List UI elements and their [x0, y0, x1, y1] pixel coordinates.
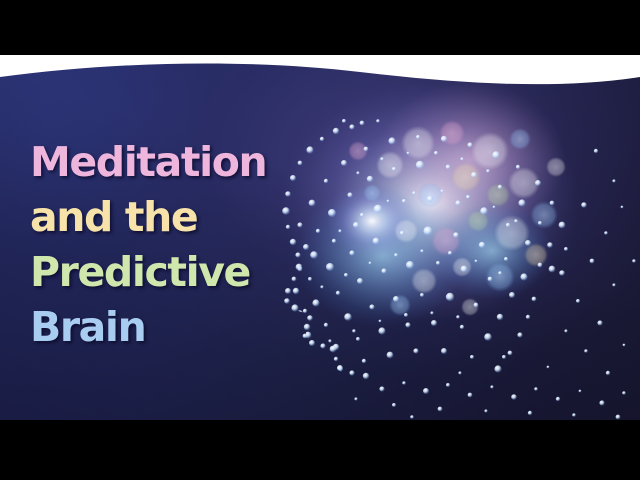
letterbox-bar-top: [0, 0, 640, 55]
title-line-predictive: Predictive: [30, 245, 330, 300]
video-thumbnail-frame: Meditation and the Predictive Brain: [0, 0, 640, 480]
thumbnail-artwork: Meditation and the Predictive Brain: [0, 55, 640, 420]
letterbox-bar-bottom: [0, 420, 640, 480]
title-block: Meditation and the Predictive Brain: [30, 135, 330, 355]
title-line-brain: Brain: [30, 300, 330, 355]
top-white-curve: [0, 55, 640, 101]
title-line-and-the: and the: [30, 190, 330, 245]
title-line-meditation: Meditation: [30, 135, 330, 190]
